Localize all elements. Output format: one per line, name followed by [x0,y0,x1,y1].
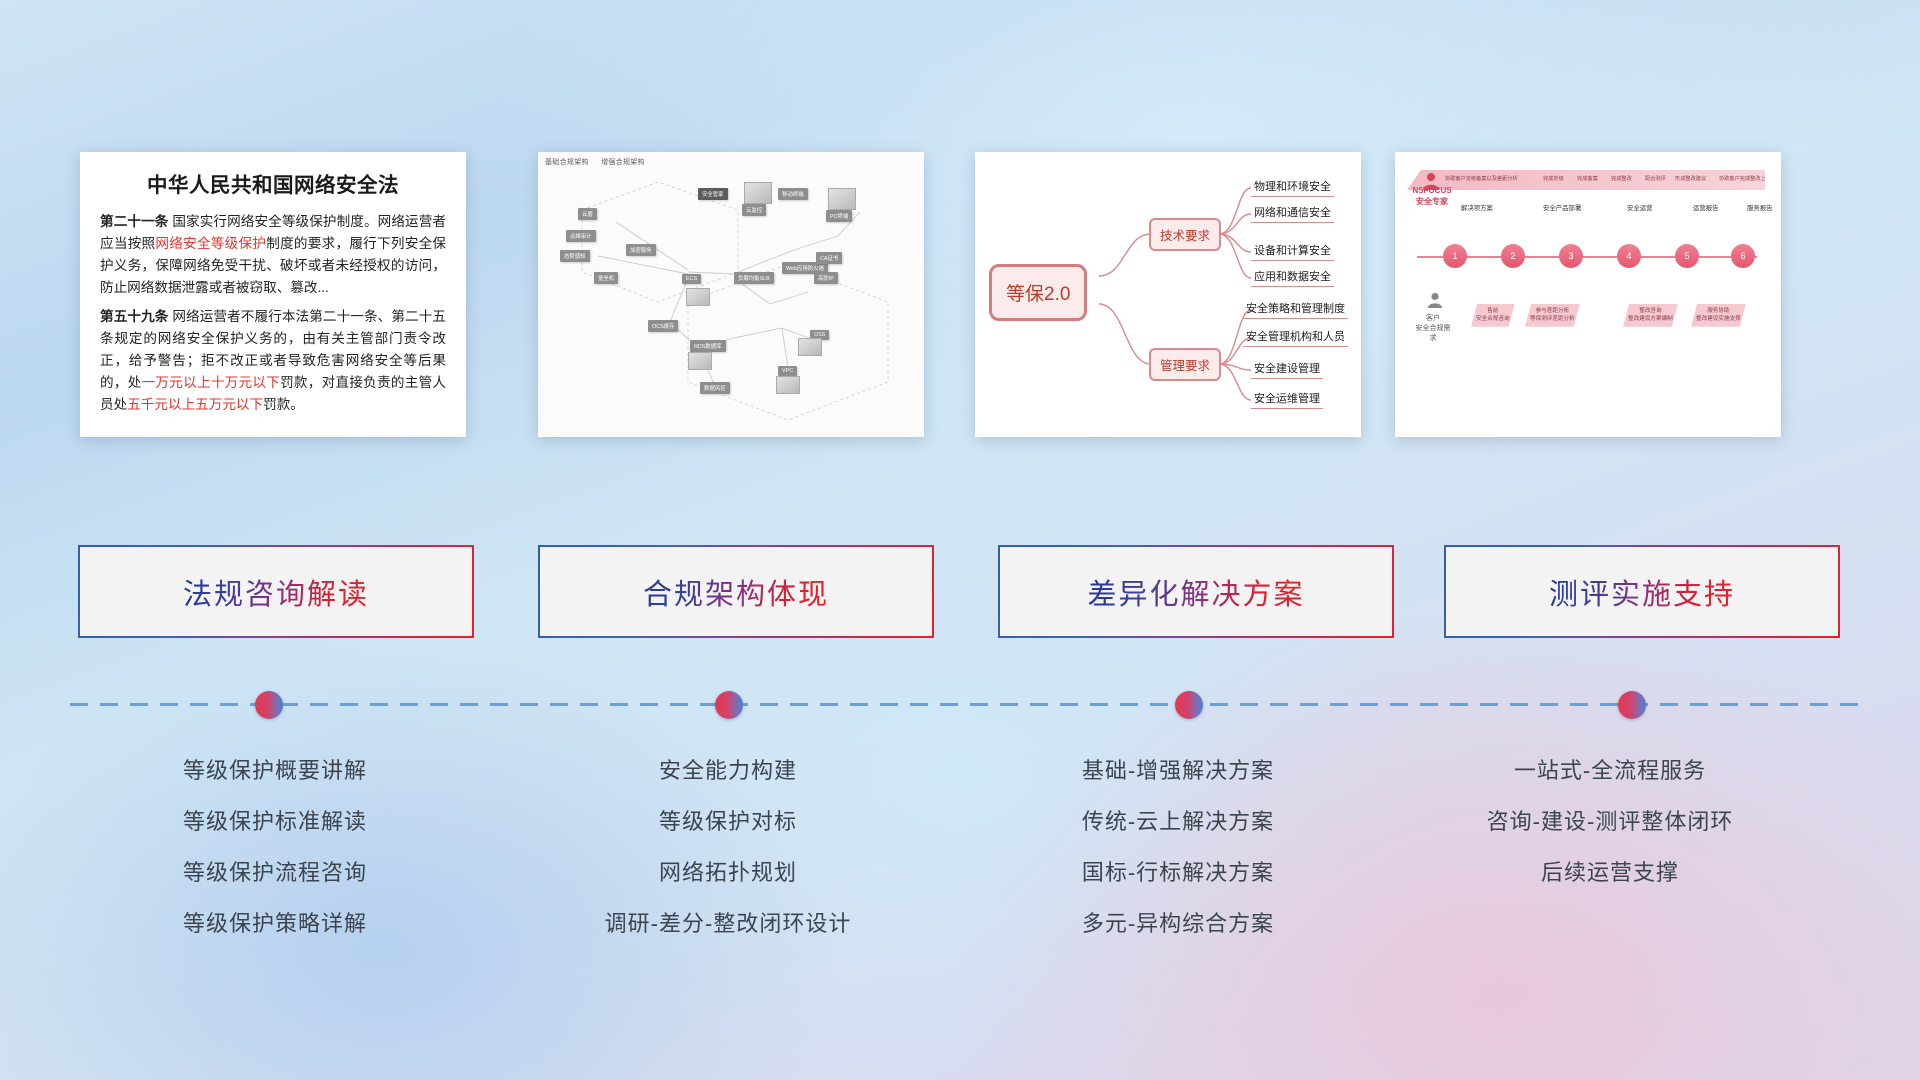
nsfocus-band-item-1: 完成定级 [1543,175,1564,182]
mindmap-leaf-mgmt-3: 安全建设管理 [1251,360,1323,379]
list-item: 等级保护标准解读 [65,796,485,847]
card-architecture-diagram[interactable]: 基础合规架构 增强合规架构 [538,152,924,437]
detail-list-row: 等级保护概要讲解 等级保护标准解读 等级保护流程咨询 等级保护策略详解 安全能力… [0,745,1920,945]
law-seg-2-4: 罚款。 [263,397,304,412]
arch-node-pc: PC终端 [826,210,852,222]
nsfocus-tag-3: 服务协助 整改建设实施支撑 [1691,304,1746,327]
headline-label-3: 差异化解决方案 [1087,571,1304,613]
nsfocus-brand-label: NSFOCUS安全专家 [1409,186,1455,208]
law-article-label-1: 第二十一条 [100,214,168,229]
nsfocus-tag-1-sub: 等保测评差距分析 [1530,316,1575,322]
arch-node-cloudmonitor: 云监控 [742,204,766,216]
list-item: 等级保护概要讲解 [65,745,485,796]
arch-node-ca: CA证书 [816,252,842,264]
mindmap-leaf-mgmt-1: 安全策略和管理制度 [1243,300,1348,319]
law-paragraph-1: 第二十一条 国家实行网络安全等级保护制度。网络运营者应当按照网络安全等级保护制度… [100,211,446,299]
customer-person-icon [1426,292,1444,308]
headline-box-4[interactable]: 测评实施支持 [1444,545,1840,638]
arch-icon-device-2 [828,188,856,210]
detail-column-3: 基础-增强解决方案 传统-云上解决方案 国标-行标解决方案 多元-异构综合方案 [968,745,1388,949]
thumbnail-card-row: 中华人民共和国网络安全法 第二十一条 国家实行网络安全等级保护制度。网络运营者应… [0,152,1920,442]
mindmap-leaf-mgmt-4: 安全运维管理 [1251,390,1323,409]
list-item: 调研-差分-整改闭环设计 [518,898,938,949]
arch-node-ecs: ECS [682,274,701,284]
arch-node-bastion: 堡垒机 [594,272,618,284]
arch-node-slb: 负载均衡SLB [734,272,774,284]
poster-stage: 中华人民共和国网络安全法 第二十一条 国家实行网络安全等级保护制度。网络运营者应… [0,0,1920,1080]
arch-node-antiddos: 高防IP [814,272,838,284]
mindmap-canvas: 等保2.0 技术要求 管理要求 物理和环境安全 网络和通信安全 设备和计算安全 … [975,152,1361,437]
law-paragraph-2: 第五十九条 网络运营者不履行本法第二十一条、第二十五条规定的网络安全保护义务的，… [100,306,446,416]
nsfocus-tag-1-title: 参与差距分析 [1536,308,1570,314]
nsfocus-tag-2-title: 整改咨询 [1639,308,1661,314]
dashed-timeline [70,703,1860,706]
headline-row: 法规咨询解读 合规架构体现 差异化解决方案 测评实施支持 [0,545,1920,640]
nsfocus-tag-3-title: 服务协助 [1707,308,1729,314]
list-item: 多元-异构综合方案 [968,898,1388,949]
nsfocus-phase-row: 解决项方案 安全产品部署 安全运营 运营报告 服务报告 [1455,200,1773,218]
nsfocus-step-5: 5 [1675,244,1699,268]
architecture-connectors [538,152,924,437]
list-item: 等级保护流程咨询 [65,847,485,898]
nsfocus-customer-icon-wrap [1413,292,1457,313]
nsfocus-band-item-6: 协助客户完成整改上线并正式运营 [1719,175,1781,182]
law-article-label-2: 第五十九条 [100,309,168,324]
arch-node-security-housekeeper: 安全管家 [698,188,728,200]
list-item: 网络拓扑规划 [518,847,938,898]
law-seg-2-3: 五千元以上五万元以下 [127,397,263,412]
nsfocus-band-item-5: 形成整改建议 [1675,175,1706,182]
arch-icon-vpc [776,376,800,394]
nsfocus-tag-0: 售前 安全合规咨询 [1471,304,1515,327]
card-mindmap[interactable]: 等保2.0 技术要求 管理要求 物理和环境安全 网络和通信安全 设备和计算安全 … [975,152,1361,437]
arch-node-ocs: OCS缓存 [648,320,678,332]
card-nsfocus-timeline[interactable]: 协助客户定级备案以及差距分析 完成定级 完成备案 完成整改 配合测评 形成整改建… [1395,152,1781,437]
arch-node-mobile: 移动终端 [778,188,808,200]
arch-icon-ecs [686,288,710,306]
timeline-dot-3[interactable] [1175,691,1203,719]
law-seg-2-1: 一万元以上十万元以下 [142,375,281,390]
nsfocus-phase-2: 安全运营 [1627,203,1653,212]
nsfocus-axis-line [1417,256,1757,258]
nsfocus-phase-3: 运营报告 [1693,203,1719,212]
card-law-text[interactable]: 中华人民共和国网络安全法 第二十一条 国家实行网络安全等级保护制度。网络运营者应… [80,152,466,437]
law-seg-1-1: 网络安全等级保护 [155,236,266,251]
list-item: 咨询-建设-测评整体闭环 [1400,796,1820,847]
timeline-dot-4[interactable] [1618,691,1646,719]
nsfocus-step-3: 3 [1559,244,1583,268]
mindmap-leaf-mgmt-2: 安全管理机构和人员 [1243,328,1348,347]
mindmap-leaf-tech-3: 设备和计算安全 [1251,242,1334,261]
nsfocus-tag-1: 参与差距分析 等保测评差距分析 [1525,304,1580,327]
arch-icon-oss [798,338,822,356]
nsfocus-top-band: 协助客户定级备案以及差距分析 完成定级 完成备案 完成整改 配合测评 形成整改建… [1407,170,1765,190]
headline-label-1: 法规咨询解读 [183,571,369,613]
arch-node-rds: RDS数据库 [690,340,726,352]
headline-label-2: 合规架构体现 [643,571,829,613]
mindmap-leaf-tech-1: 物理和环境安全 [1251,178,1334,197]
nsfocus-phase-1: 安全产品部署 [1543,203,1581,212]
list-item: 传统-云上解决方案 [968,796,1388,847]
nsfocus-tag-0-title: 售前 [1487,308,1498,314]
arch-node-vpc: VPC [778,366,797,376]
headline-box-3[interactable]: 差异化解决方案 [998,545,1394,638]
nsfocus-step-4: 4 [1617,244,1641,268]
nsfocus-step-6: 6 [1731,244,1755,268]
nsfocus-tag-2-sub: 整改建设方案编制 [1628,316,1673,322]
detail-column-4: 一站式-全流程服务 咨询-建设-测评整体闭环 后续运营支撑 [1400,745,1820,898]
list-item: 后续运营支撑 [1400,847,1820,898]
mindmap-branch-technical: 技术要求 [1149,218,1221,251]
nsfocus-band-item-4: 配合测评 [1645,175,1666,182]
architecture-canvas: 基础合规架构 增强合规架构 [538,152,924,437]
list-item: 等级保护对标 [518,796,938,847]
nsfocus-band-item-2: 完成备案 [1577,175,1598,182]
list-item: 一站式-全流程服务 [1400,745,1820,796]
law-title: 中华人民共和国网络安全法 [100,168,446,198]
detail-column-2: 安全能力构建 等级保护对标 网络拓扑规划 调研-差分-整改闭环设计 [518,745,938,949]
detail-column-1: 等级保护概要讲解 等级保护标准解读 等级保护流程咨询 等级保护策略详解 [65,745,485,949]
nsfocus-phase-0: 解决项方案 [1461,203,1493,212]
nsfocus-tag-3-sub: 整改建设实施支撑 [1696,316,1741,322]
nsfocus-band-item-0: 协助客户定级备案以及差距分析 [1445,175,1518,182]
arch-node-cloudshield: 云盾 [578,208,597,220]
headline-box-2[interactable]: 合规架构体现 [538,545,934,638]
nsfocus-step-2: 2 [1501,244,1525,268]
nsfocus-phase-4: 服务报告 [1747,203,1773,212]
arch-node-situation: 态势感知 [560,250,590,262]
arch-icon-device-1 [744,182,772,204]
list-item: 安全能力构建 [518,745,938,796]
list-item: 基础-增强解决方案 [968,745,1388,796]
mindmap-leaf-tech-4: 应用和数据安全 [1251,268,1334,287]
timeline-dot-1[interactable] [255,691,283,719]
mindmap-branch-management: 管理要求 [1149,348,1221,381]
list-item: 等级保护策略详解 [65,898,485,949]
mindmap-root: 等保2.0 [989,264,1087,321]
nsfocus-canvas: 协助客户定级备案以及差距分析 完成定级 完成备案 完成整改 配合测评 形成整改建… [1395,152,1781,437]
nsfocus-band-item-3: 完成整改 [1611,175,1632,182]
list-item: 国标-行标解决方案 [968,847,1388,898]
headline-box-1[interactable]: 法规咨询解读 [78,545,474,638]
mindmap-leaf-tech-2: 网络和通信安全 [1251,204,1334,223]
nsfocus-tag-2: 整改咨询 整改建设方案编制 [1623,304,1678,327]
headline-label-4: 测评实施支持 [1549,571,1735,613]
nsfocus-step-1: 1 [1443,244,1467,268]
law-document: 中华人民共和国网络安全法 第二十一条 国家实行网络安全等级保护制度。网络运营者应… [80,152,466,437]
nsfocus-tag-0-sub: 安全合规咨询 [1476,316,1510,322]
arch-node-opsaudit: 运维审计 [566,230,596,242]
timeline-dot-2[interactable] [715,691,743,719]
arch-node-encryption: 加密服务 [626,244,656,256]
arch-node-riskcontrol: 数据风控 [700,382,730,394]
arch-icon-rds [688,352,712,370]
nsfocus-customer-label: 客户安全合规需求 [1413,314,1453,343]
